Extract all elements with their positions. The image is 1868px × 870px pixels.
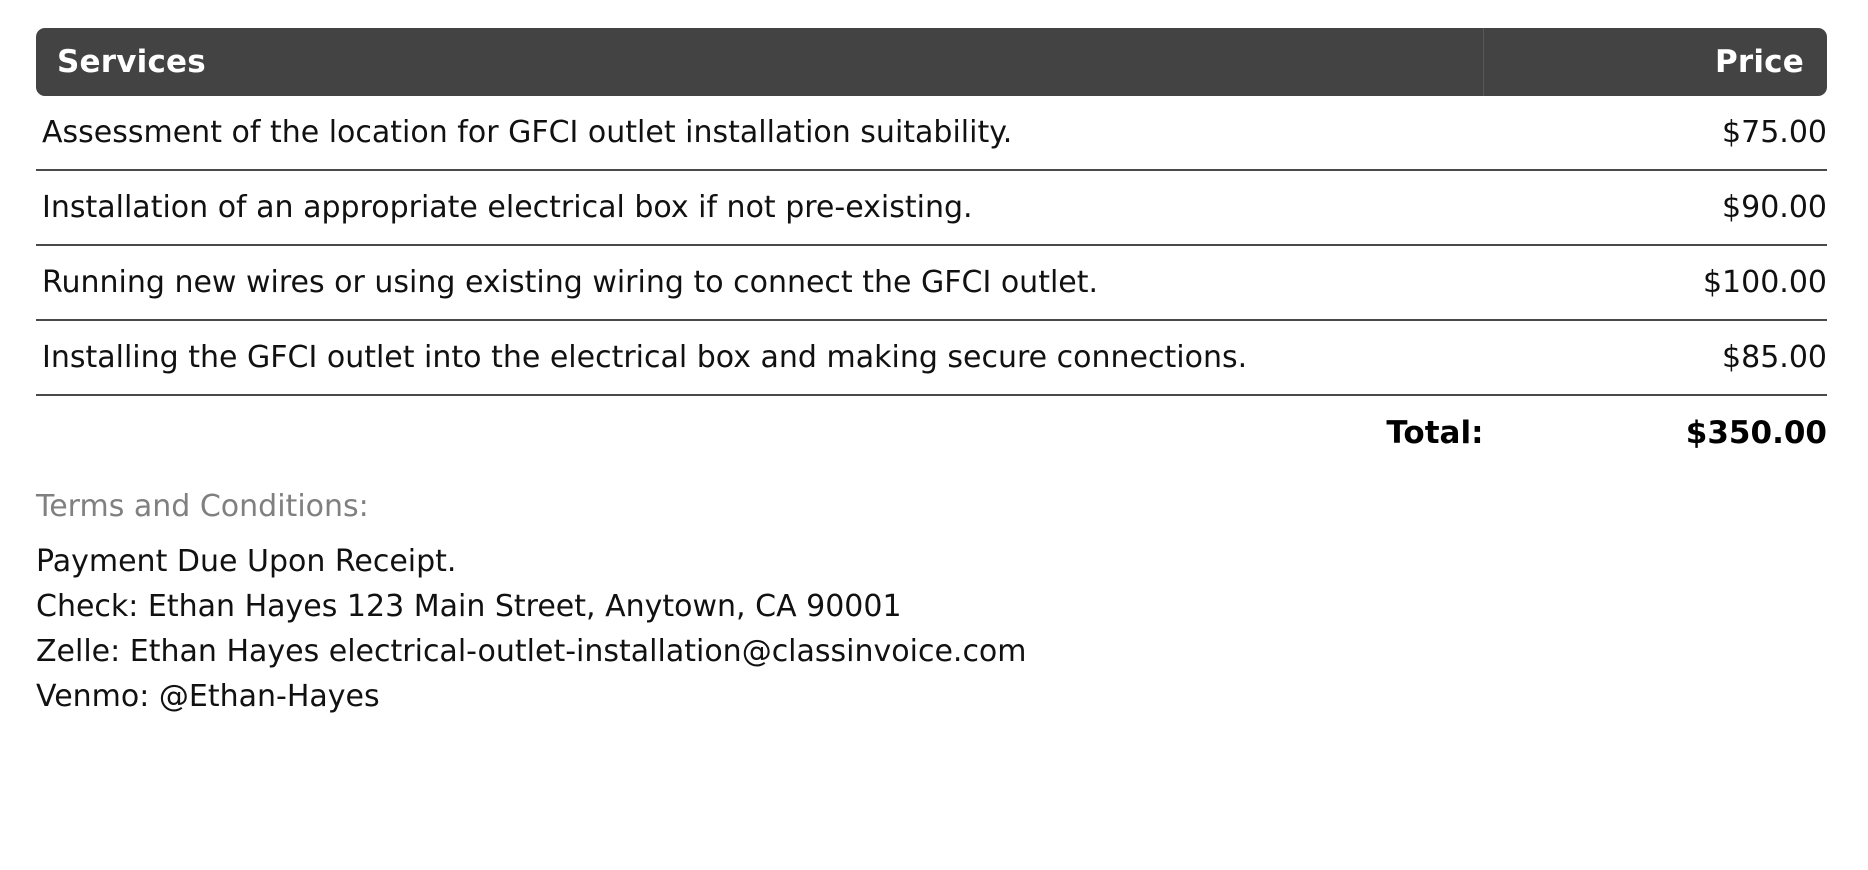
terms-and-conditions-section: Terms and Conditions: Payment Due Upon R…	[36, 492, 1827, 719]
service-description: Installing the GFCI outlet into the elec…	[36, 320, 1484, 395]
table-row: Running new wires or using existing wiri…	[36, 245, 1827, 320]
service-price: $100.00	[1484, 245, 1828, 320]
table-row: Installing the GFCI outlet into the elec…	[36, 320, 1827, 395]
terms-heading: Terms and Conditions:	[36, 492, 1827, 522]
services-table-body: Assessment of the location for GFCI outl…	[36, 96, 1827, 470]
table-header-row: Services Price	[36, 28, 1827, 96]
service-description: Running new wires or using existing wiri…	[36, 245, 1484, 320]
service-description: Installation of an appropriate electrica…	[36, 170, 1484, 245]
total-amount: $350.00	[1484, 395, 1828, 470]
table-row: Installation of an appropriate electrica…	[36, 170, 1827, 245]
service-price: $90.00	[1484, 170, 1828, 245]
services-table: Services Price Assessment of the locatio…	[36, 28, 1827, 470]
column-header-price: Price	[1484, 28, 1828, 96]
terms-line-payment-due: Payment Due Upon Receipt.	[36, 539, 1827, 584]
terms-line-zelle: Zelle: Ethan Hayes electrical-outlet-ins…	[36, 629, 1827, 674]
table-row: Assessment of the location for GFCI outl…	[36, 96, 1827, 170]
total-row: Total: $350.00	[36, 395, 1827, 470]
service-price: $75.00	[1484, 96, 1828, 170]
terms-line-venmo: Venmo: @Ethan-Hayes	[36, 674, 1827, 719]
service-price: $85.00	[1484, 320, 1828, 395]
total-label: Total:	[36, 395, 1484, 470]
service-description: Assessment of the location for GFCI outl…	[36, 96, 1484, 170]
terms-line-check: Check: Ethan Hayes 123 Main Street, Anyt…	[36, 584, 1827, 629]
column-header-services: Services	[36, 28, 1484, 96]
invoice-document: Services Price Assessment of the locatio…	[0, 0, 1868, 870]
services-table-head: Services Price	[36, 28, 1827, 96]
